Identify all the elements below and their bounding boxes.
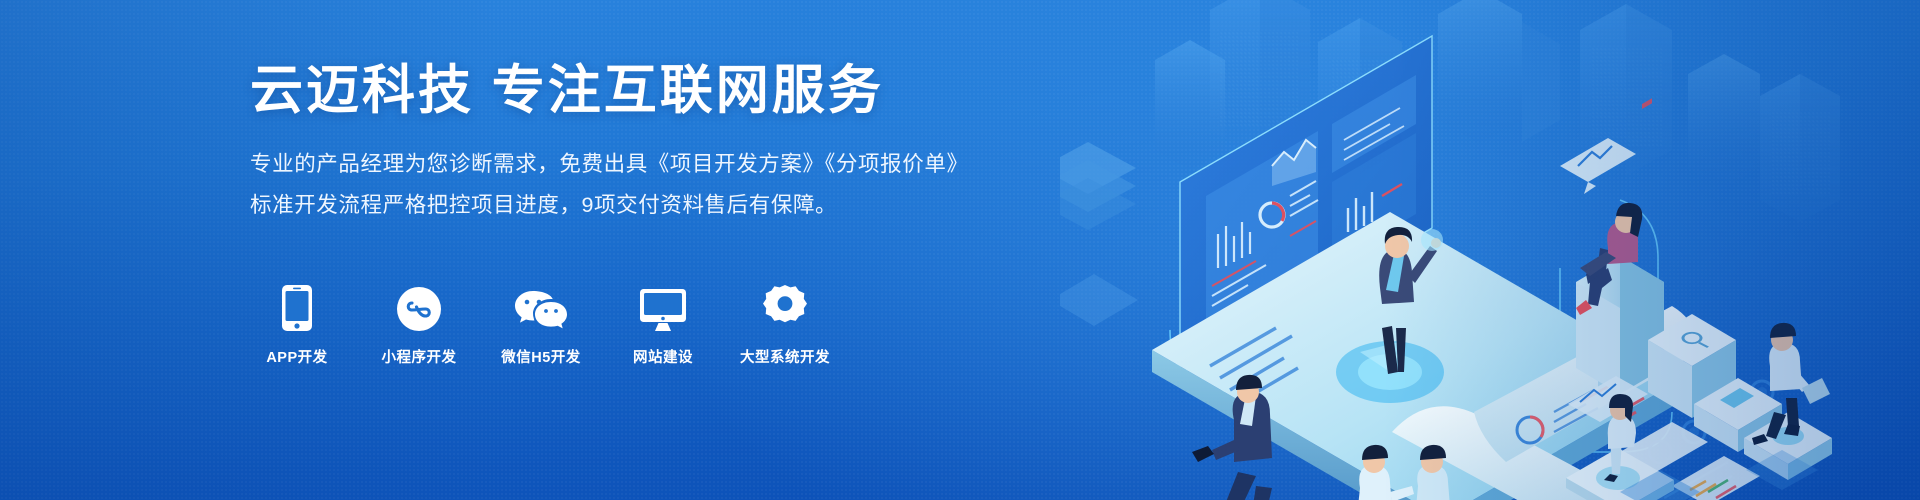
service-label: 网站建设: [633, 346, 693, 367]
subtitle-line-1: 专业的产品经理为您诊断需求，免费出具《项目开发方案》《分项报价单》: [250, 145, 1070, 183]
service-item-website[interactable]: 网站建设: [618, 283, 708, 367]
service-label: 小程序开发: [382, 346, 457, 367]
stacked-data-slabs: [1060, 142, 1138, 326]
promo-banner: 云迈科技 专注互联网服务 专业的产品经理为您诊断需求，免费出具《项目开发方案》《…: [0, 0, 1920, 500]
service-item-large-system[interactable]: 大型系统开发: [740, 283, 830, 367]
service-label: APP开发: [266, 346, 327, 367]
service-list: APP开发 小程序开发 微信: [252, 283, 830, 367]
service-label: 大型系统开发: [740, 346, 830, 367]
service-item-miniprogram[interactable]: 小程序开发: [374, 283, 464, 367]
service-item-wechat-h5[interactable]: 微信H5开发: [496, 283, 586, 367]
illustration: [1060, 0, 1920, 500]
subtitle-line-2: 标准开发流程严格把控项目进度，9项交付资料售后有保障。: [250, 186, 1070, 224]
wechat-icon: [515, 283, 567, 331]
mobile-phone-icon: [282, 283, 312, 331]
page-title: 云迈科技 专注互联网服务: [250, 62, 1070, 119]
service-label: 微信H5开发: [501, 346, 581, 367]
monitor-icon: [640, 283, 686, 331]
mini-program-icon: [397, 283, 441, 331]
service-item-app[interactable]: APP开发: [252, 283, 342, 367]
gear-icon: [762, 283, 808, 331]
headline-block: 云迈科技 专注互联网服务 专业的产品经理为您诊断需求，免费出具《项目开发方案》《…: [250, 62, 1070, 224]
